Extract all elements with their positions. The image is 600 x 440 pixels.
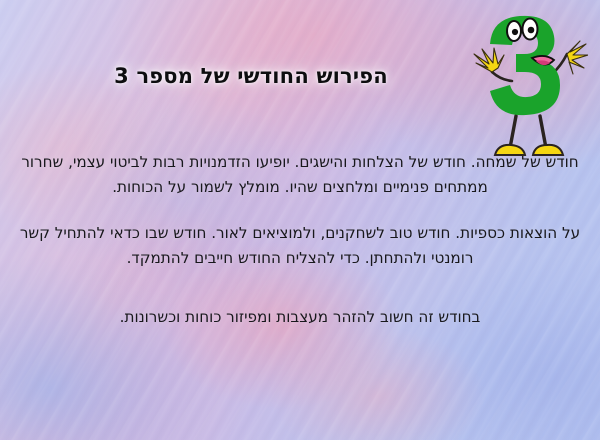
mascot-left-pupil bbox=[512, 29, 518, 35]
body-text-container: חודש של שמחה. חודש של הצלחות והישגים. יו… bbox=[18, 150, 582, 329]
paragraph-1: חודש של שמחה. חודש של הצלחות והישגים. יו… bbox=[18, 150, 582, 199]
paragraph-2: על הוצאות כספיות. חודש טוב לשחקנים, ולמו… bbox=[18, 221, 582, 270]
mascot-right-hand bbox=[567, 41, 588, 74]
mascot-left-arm bbox=[492, 72, 512, 81]
page-title: הפירוש החודשי של מספר 3 bbox=[114, 64, 388, 88]
mascot-right-leg bbox=[540, 116, 546, 148]
mascot-left-leg bbox=[510, 116, 516, 148]
paragraph-3: בחודש זה חשוב להזהר מעצבות ומפיזור כוחות… bbox=[18, 305, 582, 330]
number-three-mascot bbox=[470, 8, 588, 168]
slide-canvas: הפירוש החודשי של מספר 3 חודש של שמחה. חו… bbox=[0, 0, 600, 440]
title-container: הפירוש החודשי של מספר 3 bbox=[24, 64, 478, 88]
mascot-right-pupil bbox=[528, 27, 535, 34]
mascot-left-hand bbox=[474, 48, 504, 72]
